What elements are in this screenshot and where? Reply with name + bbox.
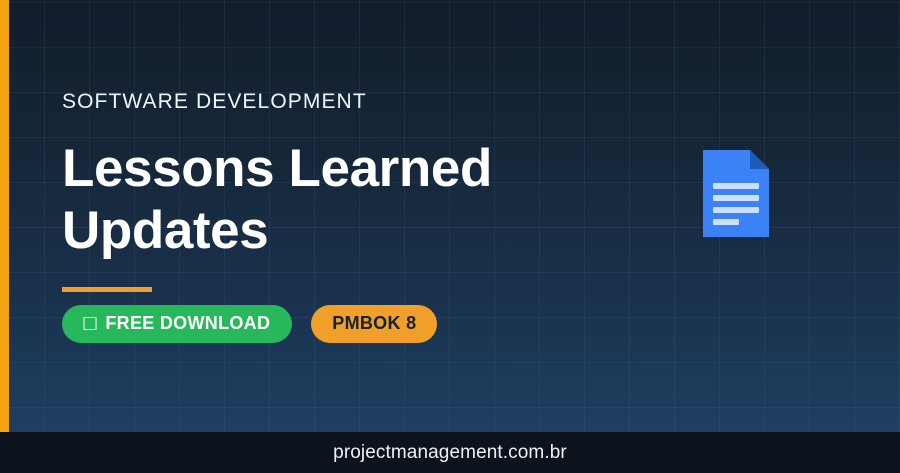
website-url: projectmanagement.com.br <box>333 442 567 464</box>
left-accent-bar <box>0 0 9 432</box>
badge-row: □ FREE DOWNLOAD PMBOK 8 <box>62 305 437 343</box>
free-download-badge-label: FREE DOWNLOAD <box>105 313 270 334</box>
pmbok-badge-label: PMBOK 8 <box>332 313 416 334</box>
banner-content: SOFTWARE DEVELOPMENT Lessons Learned Upd… <box>62 0 662 432</box>
download-icon: □ <box>82 315 98 332</box>
category-eyebrow: SOFTWARE DEVELOPMENT <box>62 90 367 114</box>
page-title: Lessons Learned Updates <box>62 138 492 262</box>
pmbok-badge[interactable]: PMBOK 8 <box>311 305 437 343</box>
free-download-badge[interactable]: □ FREE DOWNLOAD <box>62 305 292 343</box>
document-icon <box>703 150 769 237</box>
promo-banner: SOFTWARE DEVELOPMENT Lessons Learned Upd… <box>0 0 900 473</box>
orange-divider <box>62 287 152 292</box>
footer-bar: projectmanagement.com.br <box>0 432 900 473</box>
